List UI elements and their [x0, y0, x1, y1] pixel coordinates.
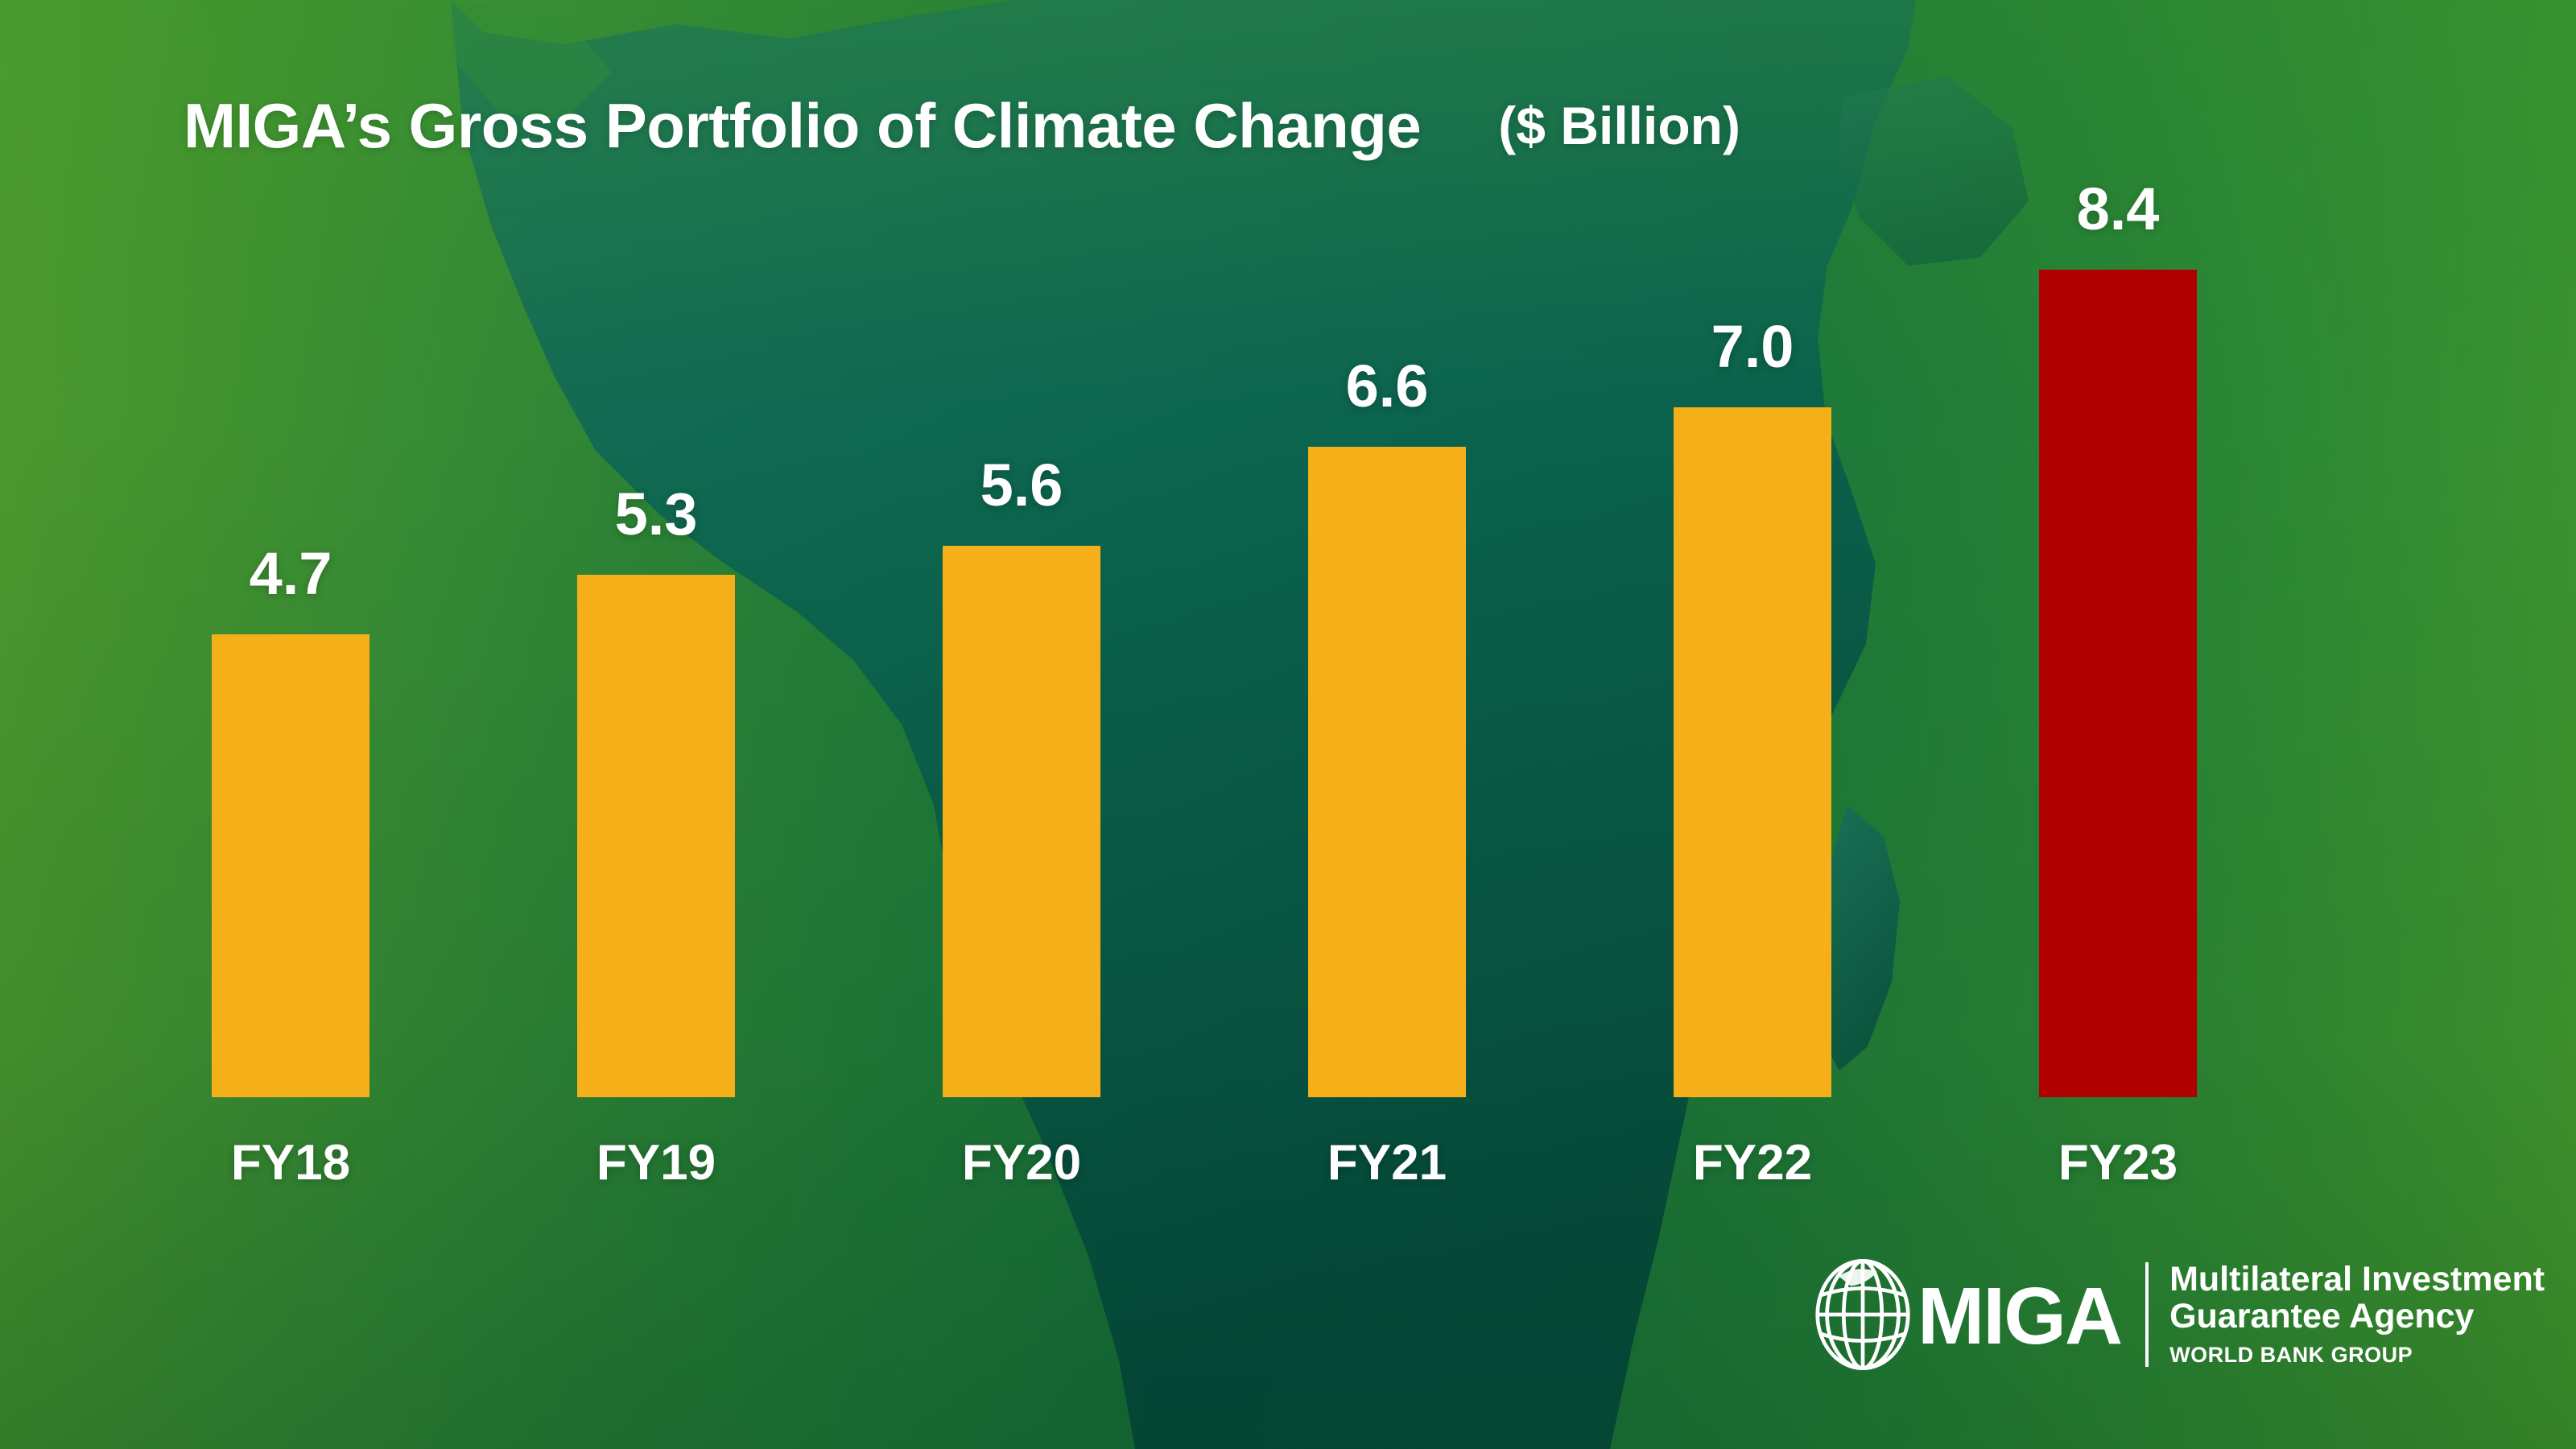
- bar-chart-plot: 4.7FY185.3FY195.6FY206.6FY217.0FY228.4FY…: [0, 0, 2576, 1449]
- bar-fy20[interactable]: [943, 546, 1100, 1097]
- miga-logo: MIGA Multilateral Investment Guarantee A…: [1803, 1254, 2545, 1375]
- bar-group: 5.6FY20: [943, 0, 1100, 1449]
- bar-group: 7.0FY22: [1674, 0, 1831, 1449]
- bar-value-label: 6.6: [1346, 352, 1429, 420]
- x-axis-label-fy21: FY21: [1327, 1134, 1447, 1191]
- x-axis-label-fy23: FY23: [2058, 1134, 2178, 1191]
- logo-tagline-line3: WORLD BANK GROUP: [2169, 1343, 2545, 1368]
- bar-group: 6.6FY21: [1308, 0, 1466, 1449]
- bar-value-label: 8.4: [2077, 175, 2160, 243]
- bar-fy18[interactable]: [212, 634, 369, 1097]
- bar-value-label: 7.0: [1711, 312, 1794, 381]
- bar-group: 4.7FY18: [212, 0, 369, 1449]
- logo-tagline-line1: Multilateral Investment: [2169, 1261, 2545, 1298]
- globe-icon: [1803, 1255, 1922, 1374]
- bar-fy19[interactable]: [577, 575, 735, 1097]
- chart-slide: MIGA’s Gross Portfolio of Climate Change…: [0, 0, 2576, 1449]
- logo-divider: [2145, 1262, 2149, 1367]
- x-axis-label-fy18: FY18: [231, 1134, 350, 1191]
- bar-fy22[interactable]: [1674, 407, 1831, 1097]
- logo-tagline-line2: Guarantee Agency: [2169, 1298, 2545, 1335]
- bar-group: 8.4FY23: [2039, 0, 2197, 1449]
- miga-wordmark: MIGA: [1918, 1276, 2121, 1356]
- bar-fy23[interactable]: [2039, 270, 2197, 1097]
- x-axis-label-fy19: FY19: [597, 1134, 716, 1191]
- x-axis-label-fy20: FY20: [962, 1134, 1081, 1191]
- x-axis-label-fy22: FY22: [1693, 1134, 1812, 1191]
- logo-tagline: Multilateral Investment Guarantee Agency…: [2169, 1261, 2545, 1367]
- bar-value-label: 5.3: [615, 480, 698, 548]
- bar-value-label: 5.6: [980, 451, 1063, 519]
- bar-group: 5.3FY19: [577, 0, 735, 1449]
- bar-fy21[interactable]: [1308, 447, 1466, 1097]
- bar-value-label: 4.7: [250, 539, 332, 608]
